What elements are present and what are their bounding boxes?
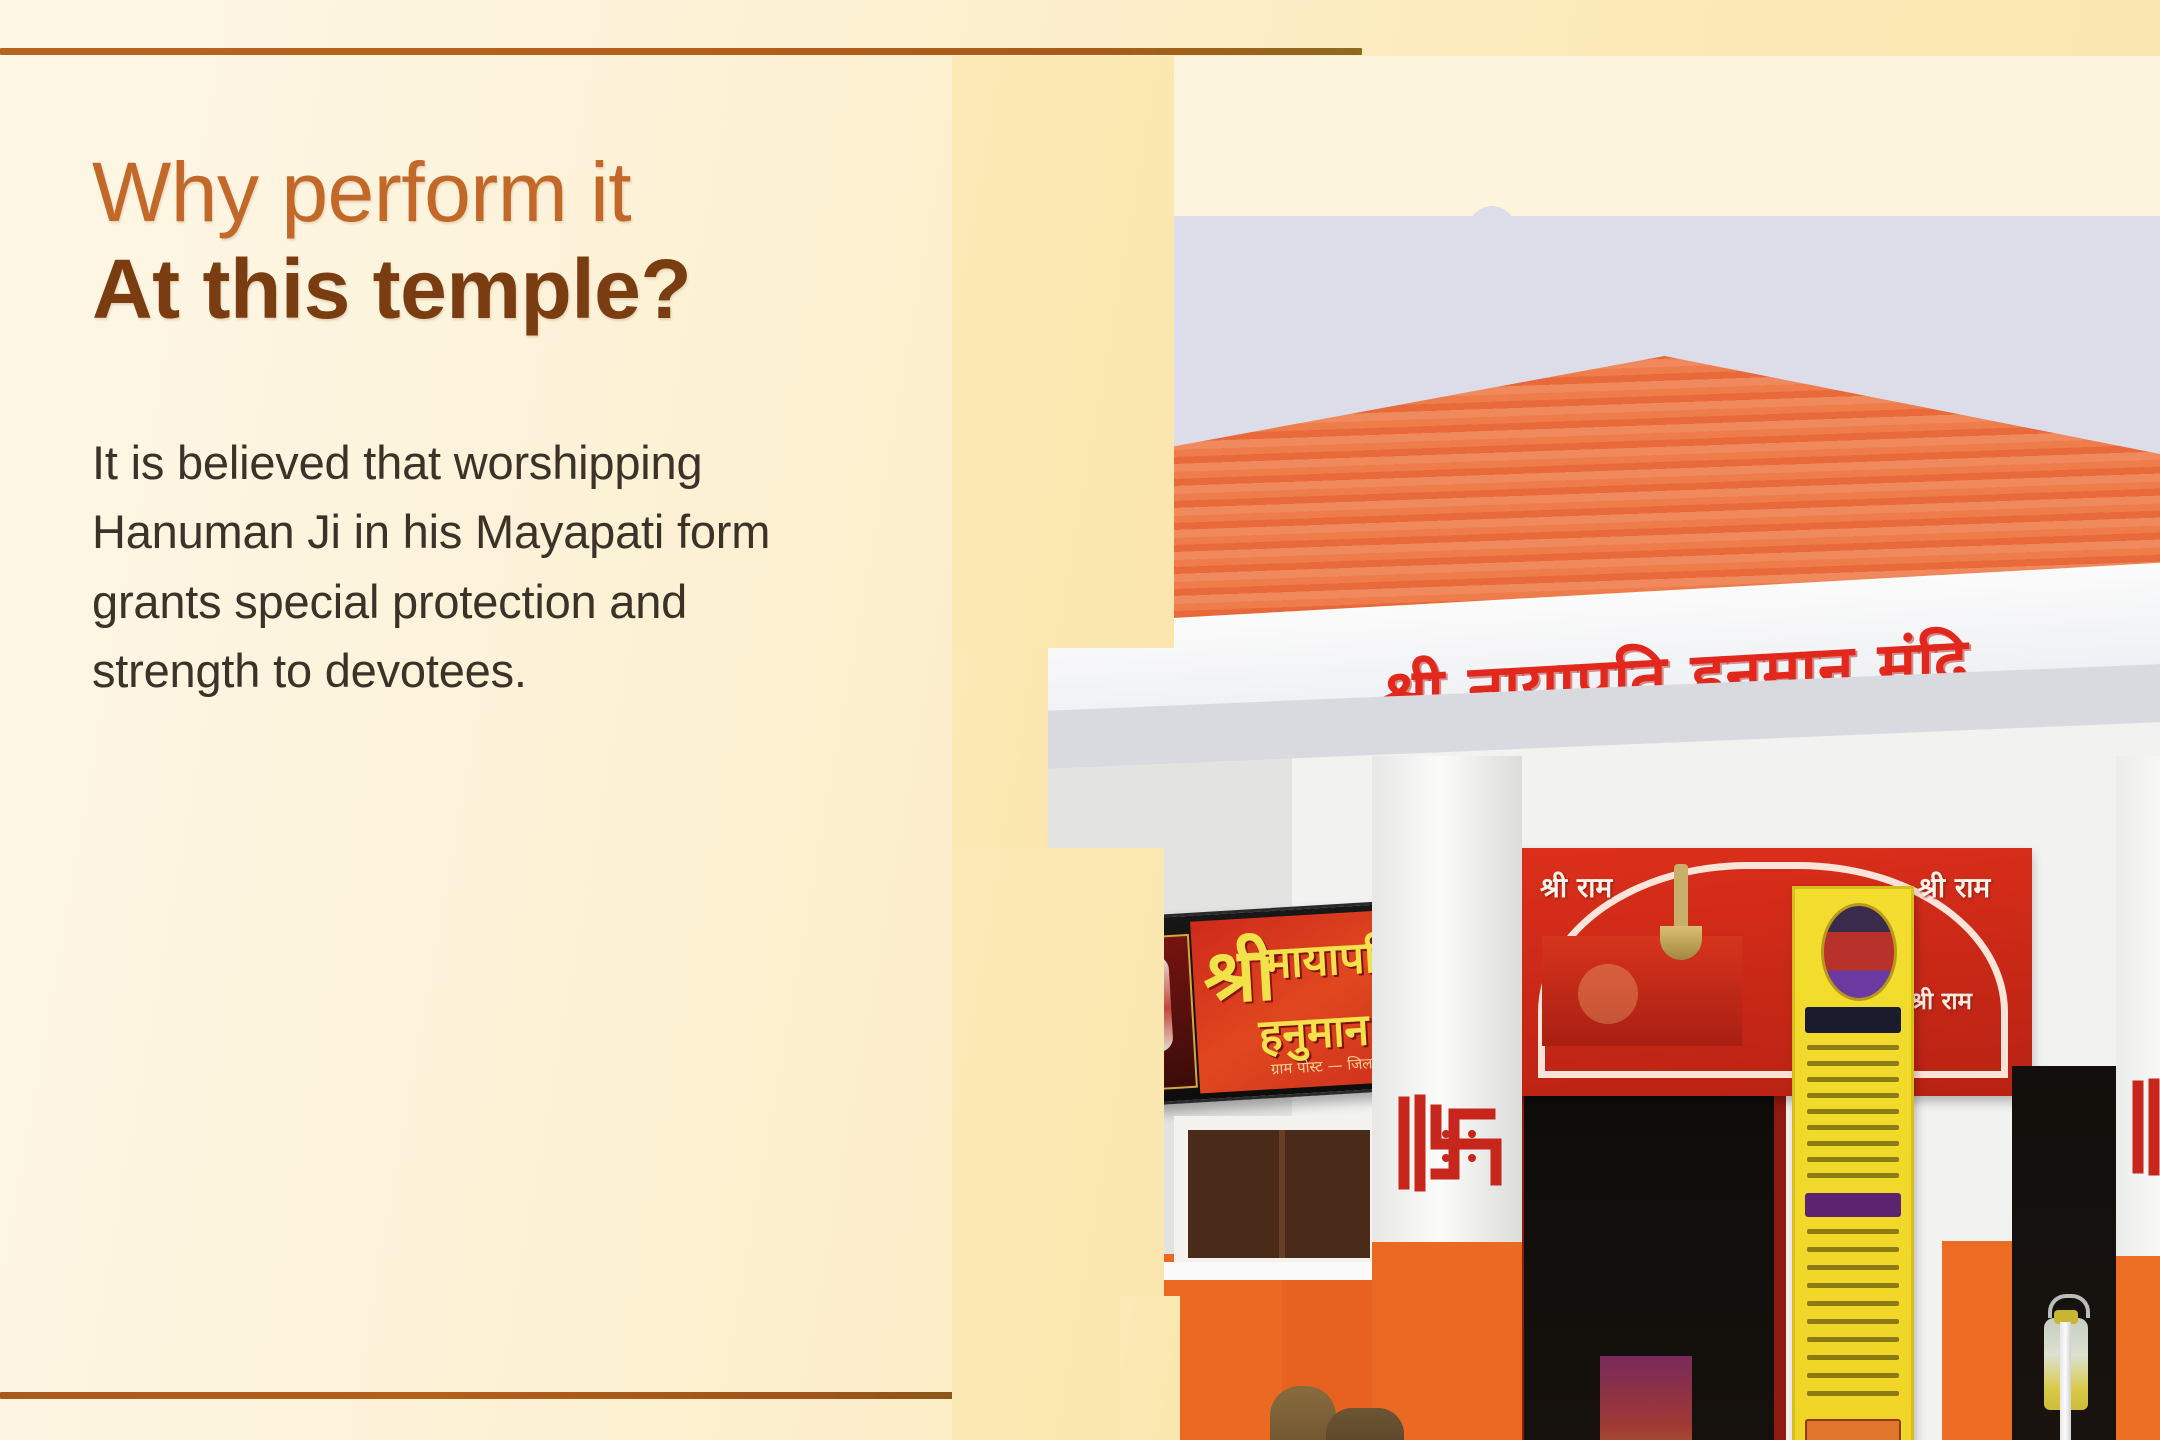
notice-footer-band	[1805, 1419, 1901, 1440]
body-paragraph: It is believed that worshipping Hanuman …	[92, 428, 822, 706]
photo-edge-cutout	[952, 56, 1174, 648]
window-sill	[1162, 1262, 1398, 1280]
temple-photo: श्री नायापति हनुमान मंदि श्री मायापति हन…	[952, 56, 2160, 1440]
arch-right-lower-text: श्री राम	[1910, 984, 1972, 1017]
bottom-divider-rule	[0, 1392, 1062, 1399]
temple-bell-icon	[1674, 864, 1688, 934]
deity-idol	[1600, 1356, 1692, 1440]
photo-edge-cutout	[952, 648, 1048, 848]
scalloped-parapet	[1072, 206, 2160, 326]
slide-canvas: Why perform it At this temple? It is bel…	[0, 0, 2160, 1440]
swastika-icon	[1394, 1084, 1514, 1204]
shrine-niche	[1542, 936, 1742, 1046]
swastika-icon	[2128, 1068, 2160, 1188]
bottle-pole	[2060, 1322, 2071, 1440]
pillar-right-base	[2116, 1256, 2160, 1440]
saint-portrait	[1821, 903, 1897, 1001]
text-column: Why perform it At this temple? It is bel…	[92, 150, 952, 753]
clay-pot-secondary	[1326, 1408, 1404, 1440]
notice-header-bar	[1805, 1007, 1901, 1033]
heading-line-1: Why perform it	[92, 150, 952, 236]
arch-right-text: श्री राम	[1918, 868, 1990, 906]
notice-accent-band	[1805, 1193, 1901, 1217]
heading-line-2: At this temple?	[92, 242, 952, 336]
photo-edge-cutout	[1120, 1296, 1180, 1440]
notice-board	[1792, 886, 1914, 1440]
pillar-middle-base	[1372, 1242, 1522, 1440]
top-divider-rule	[0, 48, 1362, 55]
temple-window	[1174, 1116, 1384, 1272]
arch-left-text: श्री राम	[1540, 868, 1612, 906]
